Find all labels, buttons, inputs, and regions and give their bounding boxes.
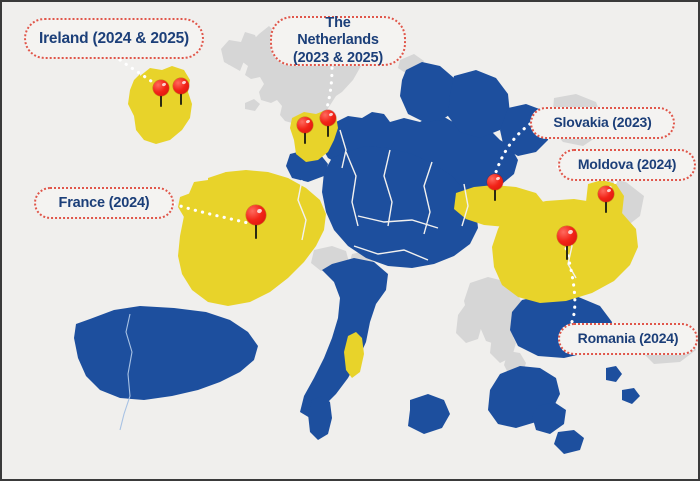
pin-head-icon [598, 186, 614, 202]
map-pin-ireland-1[interactable] [152, 80, 170, 108]
pin-head-icon [153, 80, 169, 96]
callout-slovakia[interactable]: Slovakia (2023) [530, 107, 675, 139]
callout-france[interactable]: France (2024) [34, 187, 174, 219]
map-pin-romania[interactable] [556, 226, 578, 260]
pin-head-icon [487, 174, 503, 190]
pin-head-icon [246, 205, 266, 225]
callout-romania[interactable]: Romania (2024) [558, 323, 698, 355]
map-pin-ireland-2[interactable] [172, 78, 190, 106]
pin-head-icon [297, 117, 313, 133]
callout-ireland[interactable]: Ireland (2024 & 2025) [24, 18, 204, 59]
pin-head-icon [173, 78, 189, 94]
callout-moldova[interactable]: Moldova (2024) [558, 149, 696, 181]
map-figure: .sea { fill:#f0efed; } .grey { fill:#d6d… [0, 0, 700, 481]
map-pin-moldova[interactable] [597, 186, 615, 214]
pin-head-icon [320, 110, 336, 126]
europe-map: .sea { fill:#f0efed; } .grey { fill:#d6d… [2, 2, 700, 481]
pin-head-icon [557, 226, 577, 246]
map-pin-france[interactable] [245, 205, 267, 239]
callout-netherlands[interactable]: The Netherlands (2023 & 2025) [270, 16, 406, 66]
map-pin-slovakia[interactable] [486, 174, 504, 202]
map-pin-netherlands-1[interactable] [296, 117, 314, 145]
map-pin-netherlands-2[interactable] [319, 110, 337, 138]
